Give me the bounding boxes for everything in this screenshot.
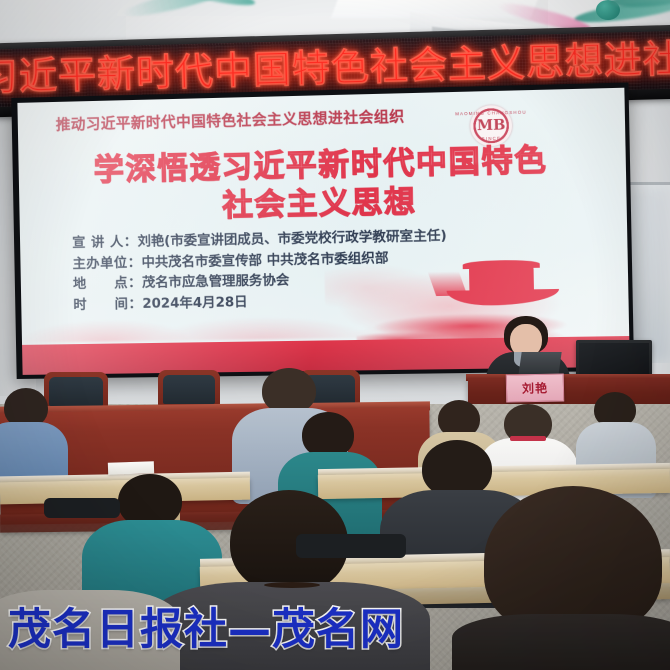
emblem-ring-top-text: MAOMING CHANGSHOU xyxy=(455,110,527,117)
laptop xyxy=(518,352,561,376)
detail-value: 刘艳(市委宣讲团成员、市委党校行政学教研室主任) xyxy=(137,229,446,250)
name-placard-text: 刘艳 xyxy=(522,379,548,396)
detail-label: 时 间： xyxy=(73,296,142,312)
detail-value: 2024年4月28日 xyxy=(142,295,248,312)
detail-value: 茂名市应急管理服务协会 xyxy=(142,273,290,291)
name-placard: 刘艳 xyxy=(506,373,564,402)
photo-scene: 习近平新时代中国特色社会主义思想进社会组织宣讲会 推动习近平新时代中国特色社会主… xyxy=(0,0,670,670)
slide-kicker: 推动习近平新时代中国特色社会主义思想进社会组织 xyxy=(56,105,405,135)
boat-hull xyxy=(447,289,560,306)
fan-blade xyxy=(120,0,240,22)
emblem-monogram: МВ xyxy=(477,117,506,134)
detail-label: 地 点： xyxy=(73,276,142,292)
detail-label: 宣 讲 人： xyxy=(72,235,138,251)
chair xyxy=(296,534,406,558)
watermark: 茂名日报社—茂名网 xyxy=(8,604,404,656)
organization-emblem-icon: MAOMING CHANGSHOU МВ SINCE xyxy=(470,105,512,147)
slide-details: 宣 讲 人：刘艳(市委宣讲团成员、市委党校行政学教研室主任) 主办单位：中共茂名… xyxy=(72,227,448,316)
paper-document xyxy=(108,461,154,475)
ceiling-fan-left xyxy=(120,0,270,26)
red-boat-icon xyxy=(446,257,559,306)
detail-label: 主办单位： xyxy=(72,255,141,271)
chair xyxy=(44,498,120,518)
necklace-icon xyxy=(264,582,320,588)
boat-cabin xyxy=(469,265,534,293)
emblem-ring-bottom-text: SINCE xyxy=(482,136,501,142)
detail-value: 中共茂名市委宣传部 中共茂名市委组织部 xyxy=(141,251,388,271)
chair-back xyxy=(158,370,220,406)
audience-person-foreground xyxy=(432,486,670,670)
person-body xyxy=(452,614,670,670)
